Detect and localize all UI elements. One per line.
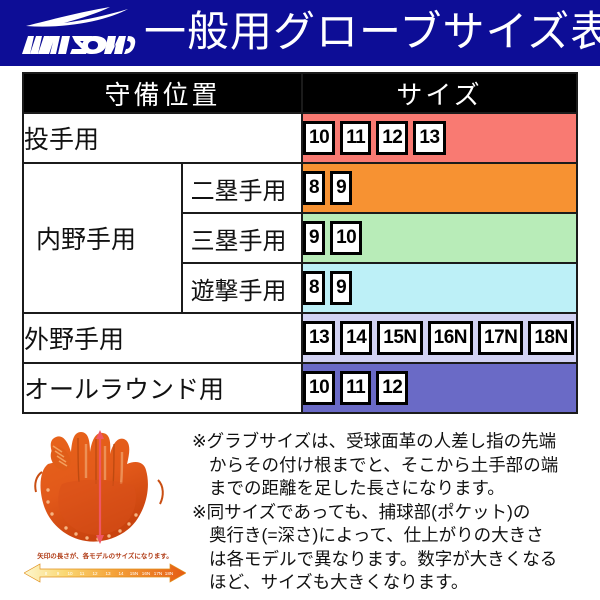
size-chip: 8 — [303, 171, 325, 205]
size-cell-outfielder: 13 14 15N 16N 17N 18N — [302, 313, 577, 363]
position-label-shortstop: 遊撃手用 — [182, 263, 302, 313]
position-label-infielder: 内野手用 — [23, 163, 182, 313]
size-chip-group: 8 9 — [303, 164, 576, 212]
size-chip: 9 — [330, 271, 352, 305]
glove-caption: 矢印の長さが、各モデルのサイズになります。 — [22, 550, 188, 560]
size-cell-allround: 10 11 12 — [302, 363, 577, 413]
position-label-outfielder: 外野手用 — [23, 313, 302, 363]
svg-text:9: 9 — [57, 571, 60, 576]
mizuno-runbird-icon — [24, 6, 132, 34]
table-header-row: 守備位置 サイズ — [23, 73, 577, 113]
table-row: 投手用 10 11 12 13 — [23, 113, 577, 163]
size-chip-group: 9 10 — [303, 214, 576, 262]
size-cell-pitcher: 10 11 12 13 — [302, 113, 577, 163]
footer-section: 矢印の長さが、各モデルのサイズになります。 8 9 10 11 12 13 14 — [0, 424, 600, 600]
size-chip: 9 — [303, 221, 325, 255]
size-cell-shortstop: 8 9 — [302, 263, 577, 313]
size-chip: 15N — [377, 321, 422, 355]
svg-text:12: 12 — [92, 571, 98, 576]
size-chip: 11 — [340, 371, 371, 405]
position-label-third-base: 三塁手用 — [182, 213, 302, 263]
size-chip: 10 — [330, 221, 362, 255]
size-chip: 14 — [340, 321, 372, 355]
footnote-line: 奥行き(=深さ)によって、仕上がりの大きさ — [192, 524, 592, 548]
size-chip: 10 — [303, 371, 335, 405]
column-header-position: 守備位置 — [23, 73, 302, 113]
svg-text:15N: 15N — [130, 571, 138, 576]
size-chip: 13 — [413, 121, 445, 155]
size-cell-third-base: 9 10 — [302, 213, 577, 263]
svg-text:10: 10 — [67, 571, 73, 576]
size-chip-group: 8 9 — [303, 264, 576, 312]
size-chip-group: 10 11 12 — [303, 364, 576, 412]
footnote-line: からその付け根までと、そこから土手部の端 — [192, 454, 592, 478]
size-chip: 11 — [340, 121, 371, 155]
svg-text:17N: 17N — [154, 571, 162, 576]
page-header-banner: 一般用グローブサイズ表 — [0, 0, 600, 66]
size-chip-group: 10 11 12 13 — [303, 114, 576, 162]
glove-size-table: 守備位置 サイズ 投手用 10 11 12 13 内野手用 — [22, 72, 578, 414]
position-label-allround: オールラウンド用 — [23, 363, 302, 413]
size-chip: 12 — [376, 371, 408, 405]
size-chip: 17N — [478, 321, 523, 355]
footnote-line: までの距離を足した長さになります。 — [192, 477, 592, 501]
size-chip: 9 — [330, 171, 352, 205]
footnote-line: ほど、サイズも大きくなります。 — [192, 571, 592, 595]
footnotes: ※グラブサイズは、受球面革の人差し指の先端 からその付け根までと、そこから土手部… — [192, 430, 592, 595]
table-row: 外野手用 13 14 15N 16N 17N 18N — [23, 313, 577, 363]
size-chip: 10 — [303, 121, 335, 155]
position-label-second-base: 二塁手用 — [182, 163, 302, 213]
glove-size-table-wrapper: 守備位置 サイズ 投手用 10 11 12 13 内野手用 — [22, 72, 578, 414]
table-row: 内野手用 二塁手用 8 9 — [23, 163, 577, 213]
svg-text:16N: 16N — [142, 571, 150, 576]
svg-text:14: 14 — [118, 571, 124, 576]
footnote-line: は各モデルで異なります。数字が大きくなる — [192, 548, 592, 572]
column-header-size: サイズ — [302, 73, 577, 113]
svg-text:11: 11 — [80, 571, 85, 576]
size-chip: 12 — [376, 121, 408, 155]
mizuno-wordmark-icon — [20, 32, 136, 56]
glove-illustration-block: 矢印の長さが、各モデルのサイズになります。 8 9 10 11 12 13 14 — [18, 426, 188, 598]
size-chip: 8 — [303, 271, 325, 305]
baseball-glove-photo — [26, 428, 174, 550]
svg-text:13: 13 — [105, 571, 111, 576]
position-label-pitcher: 投手用 — [23, 113, 302, 163]
svg-text:18N: 18N — [165, 571, 173, 576]
size-chip: 13 — [303, 321, 335, 355]
size-chip: 18N — [528, 321, 573, 355]
footnote-line: ※グラブサイズは、受球面革の人差し指の先端 — [192, 430, 592, 454]
table-row: オールラウンド用 10 11 12 — [23, 363, 577, 413]
size-cell-second-base: 8 9 — [302, 163, 577, 213]
mizuno-logo — [16, 2, 138, 64]
size-chip-group: 13 14 15N 16N 17N 18N — [303, 314, 576, 362]
svg-text:8: 8 — [45, 571, 48, 576]
size-chip: 16N — [428, 321, 473, 355]
page-title: 一般用グローブサイズ表 — [144, 9, 600, 55]
size-scale-arrow: 8 9 10 11 12 13 14 15N 16N 17N 18N — [24, 562, 186, 584]
footnote-line: ※同サイズであっても、捕球部(ポケット)の — [192, 501, 592, 525]
